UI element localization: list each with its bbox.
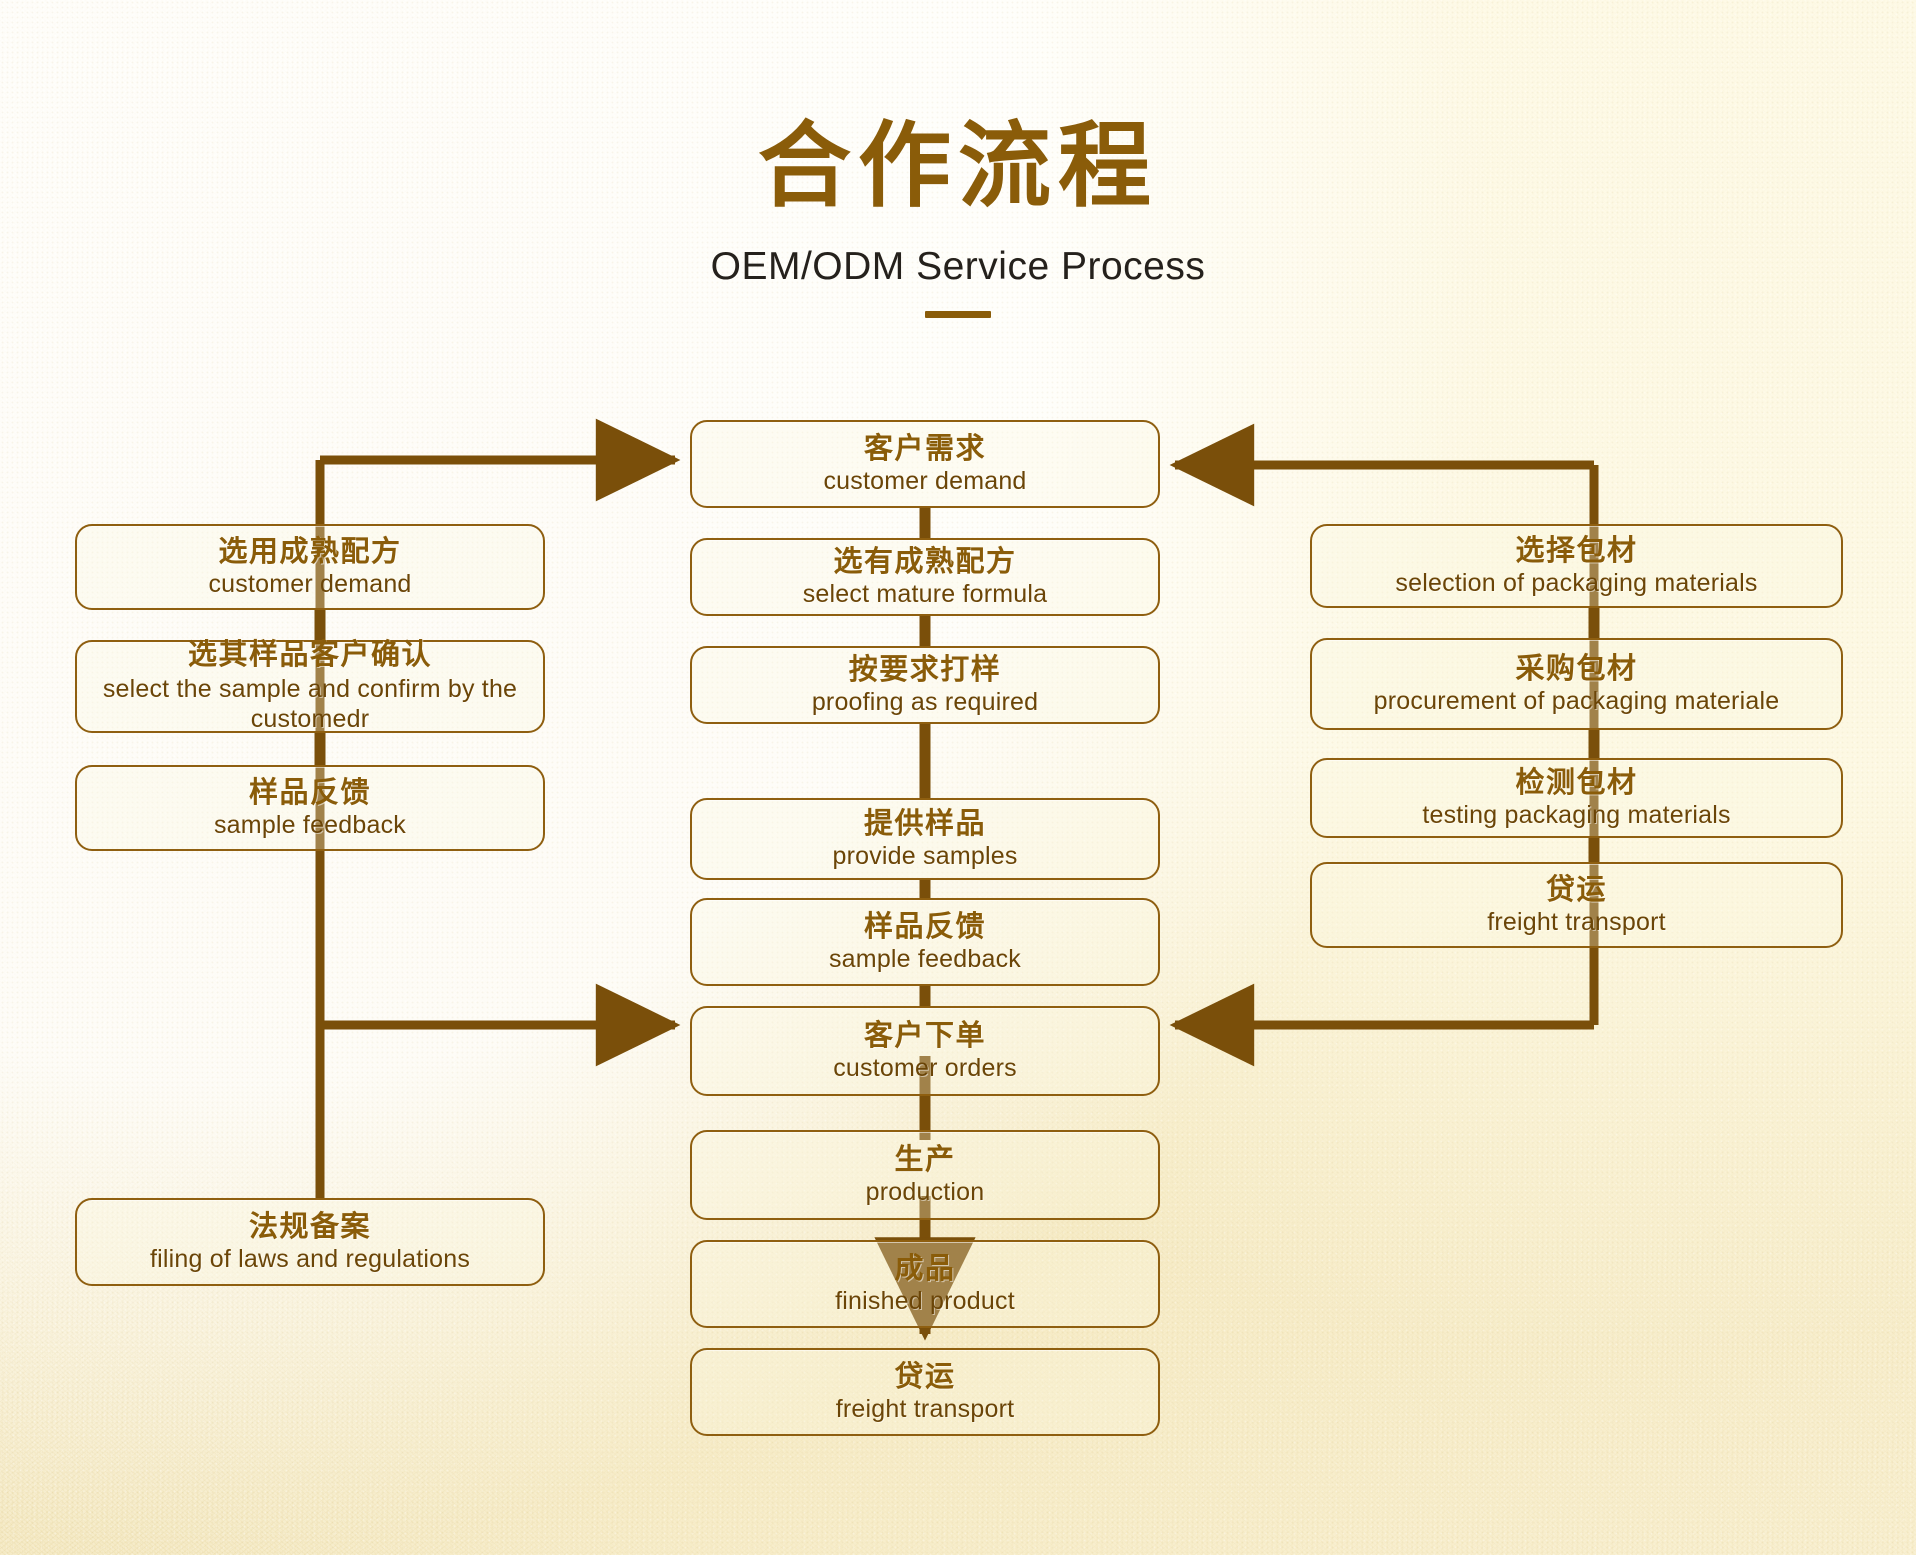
node-title-cn: 选其样品客户确认 — [188, 638, 432, 670]
node-title-cn: 法规备案 — [249, 1210, 371, 1242]
node-left-customer-demand[interactable]: 选用成熟配方 customer demand — [75, 524, 545, 610]
node-title-cn: 采购包材 — [1515, 652, 1637, 684]
node-sample-feedback-center[interactable]: 样品反馈 sample feedback — [690, 898, 1160, 986]
node-title-cn: 选择包材 — [1515, 534, 1637, 566]
node-select-mature-formula[interactable]: 选有成熟配方 select mature formula — [690, 538, 1160, 616]
node-title-en: sample feedback — [204, 811, 416, 841]
flowchart: 客户需求 customer demand 选有成熟配方 select matur… — [0, 0, 1916, 1555]
node-title-cn: 选有成熟配方 — [833, 545, 1016, 577]
node-title-en: select the sample and confirm by the cus… — [77, 674, 543, 735]
node-select-sample-confirm[interactable]: 选其样品客户确认 select the sample and confirm b… — [75, 640, 545, 733]
node-title-en: provide samples — [822, 842, 1027, 872]
node-title-en: testing packaging materials — [1412, 801, 1740, 831]
node-title-cn: 客户需求 — [864, 432, 986, 464]
node-procurement-packaging-materials[interactable]: 采购包材 procurement of packaging materiale — [1310, 638, 1843, 730]
node-filing-laws-regulations[interactable]: 法规备案 filing of laws and regulations — [75, 1198, 545, 1286]
node-title-cn: 客户下单 — [864, 1019, 986, 1051]
node-title-en: customer orders — [823, 1054, 1027, 1084]
node-freight-transport-center[interactable]: 贷运 freight transport — [690, 1348, 1160, 1436]
node-title-cn: 贷运 — [894, 1360, 955, 1392]
node-freight-transport-right[interactable]: 贷运 freight transport — [1310, 862, 1843, 948]
node-customer-orders[interactable]: 客户下单 customer orders — [690, 1006, 1160, 1096]
node-title-cn: 成品 — [894, 1252, 955, 1284]
node-title-en: proofing as required — [802, 688, 1048, 718]
node-title-en: freight transport — [1477, 908, 1676, 938]
node-title-cn: 样品反馈 — [249, 776, 371, 808]
node-title-en: selection of packaging materials — [1385, 569, 1767, 599]
node-title-en: finished product — [825, 1287, 1025, 1317]
node-sample-feedback-left[interactable]: 样品反馈 sample feedback — [75, 765, 545, 851]
node-title-cn: 样品反馈 — [864, 910, 986, 942]
node-title-en: customer demand — [198, 570, 421, 600]
node-title-cn: 选用成熟配方 — [218, 535, 401, 567]
node-title-cn: 提供样品 — [864, 807, 986, 839]
node-title-en: production — [856, 1178, 995, 1208]
node-testing-packaging-materials[interactable]: 检测包材 testing packaging materials — [1310, 758, 1843, 838]
node-customer-demand[interactable]: 客户需求 customer demand — [690, 420, 1160, 508]
node-selection-packaging-materials[interactable]: 选择包材 selection of packaging materials — [1310, 524, 1843, 608]
node-title-cn: 生产 — [894, 1143, 955, 1175]
node-proofing-as-required[interactable]: 按要求打样 proofing as required — [690, 646, 1160, 724]
node-finished-product[interactable]: 成品 finished product — [690, 1240, 1160, 1328]
node-title-en: filing of laws and regulations — [140, 1245, 480, 1275]
node-title-en: procurement of packaging materiale — [1364, 687, 1790, 717]
node-title-cn: 按要求打样 — [849, 653, 1002, 685]
node-title-cn: 贷运 — [1546, 873, 1607, 905]
node-title-en: select mature formula — [793, 580, 1058, 610]
node-provide-samples[interactable]: 提供样品 provide samples — [690, 798, 1160, 880]
node-title-en: freight transport — [826, 1395, 1025, 1425]
node-title-cn: 检测包材 — [1515, 766, 1637, 798]
node-production[interactable]: 生产 production — [690, 1130, 1160, 1220]
node-title-en: customer demand — [813, 467, 1036, 497]
node-title-en: sample feedback — [819, 945, 1031, 975]
